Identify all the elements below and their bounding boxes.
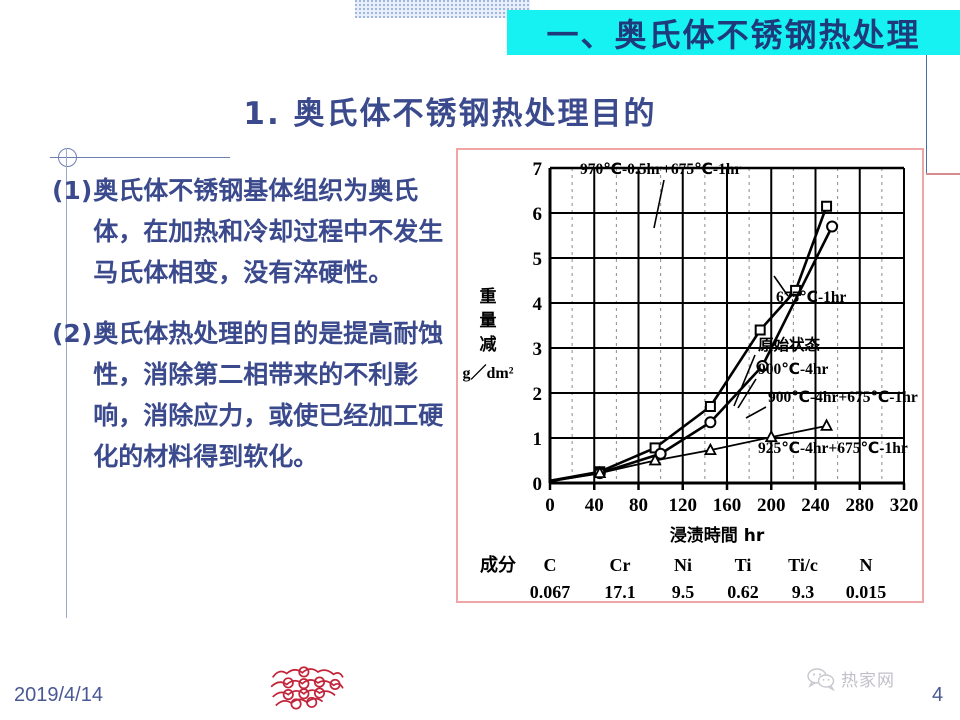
chart-y-tick-label: 5 xyxy=(533,249,543,270)
chart-y-axis-label-char: 重 xyxy=(480,286,497,307)
chart-data-point xyxy=(706,402,715,411)
chart-x-tick-label: 80 xyxy=(629,495,648,516)
chart-figure: 0123456704080120160200240280320重量减g／dm²浸… xyxy=(456,148,924,603)
chart-x-tick-label: 120 xyxy=(669,495,698,516)
paragraph-1: (1) 奥氏体不锈钢基体组织为奥氏体，在加热和冷却过程中不发生马氏体相变，没有淬… xyxy=(52,170,447,293)
paragraph-2: (2) 奥氏体热处理的目的是提高耐蚀性，消除第二相带来的不利影响，消除应力，或使… xyxy=(52,313,447,477)
chart-annotation-label: 900℃-4hr+675℃-1hr xyxy=(768,389,918,406)
chart-x-tick-label: 160 xyxy=(713,495,742,516)
chart-data-point xyxy=(822,420,832,430)
wechat-icon xyxy=(806,667,836,691)
chart-x-tick-label: 200 xyxy=(757,495,786,516)
chart-y-tick-label: 0 xyxy=(533,474,543,495)
composition-value-cell: 0.62 xyxy=(727,582,759,601)
body-text-block: (1) 奥氏体不锈钢基体组织为奥氏体，在加热和冷却过程中不发生马氏体相变，没有淬… xyxy=(52,170,447,497)
chart-annotation-leader xyxy=(654,180,664,228)
chart-x-tick-label: 280 xyxy=(846,495,875,516)
chart-x-axis-label: 浸渍時間 hr xyxy=(670,525,765,546)
chart-data-point xyxy=(822,202,831,211)
weight-loss-vs-immersion-time-chart: 0123456704080120160200240280320重量减g／dm²浸… xyxy=(458,150,922,601)
slide-canvas: 一、奥氏体不锈钢热处理 1. 奥氏体不锈钢热处理目的 (1) 奥氏体不锈钢基体组… xyxy=(0,0,960,720)
chart-x-tick-label: 240 xyxy=(801,495,830,516)
composition-row-label: 成分 xyxy=(480,554,516,576)
chart-x-tick-label: 40 xyxy=(585,495,604,516)
composition-header-cell: Ti/c xyxy=(788,555,818,575)
chart-annotation-label: 925℃-4hr+675℃-1hr xyxy=(758,440,908,457)
chart-inner: 0123456704080120160200240280320重量减g／dm²浸… xyxy=(458,150,922,601)
footer-date: 2019/4/14 xyxy=(14,684,103,707)
chart-data-point xyxy=(705,445,715,455)
composition-value-cell: 0.015 xyxy=(846,582,887,601)
chart-y-tick-label: 6 xyxy=(533,204,543,225)
right-horizontal-rule xyxy=(926,173,960,175)
paragraph-2-marker: (2) xyxy=(52,313,93,477)
paragraph-1-marker: (1) xyxy=(52,170,93,293)
chart-y-tick-label: 4 xyxy=(533,294,543,315)
chart-annotation-label: 970℃-0.5hr+675℃-1hr xyxy=(580,161,741,178)
decorative-circle-icon xyxy=(58,148,77,167)
footer-page-number: 4 xyxy=(932,684,943,707)
chart-annotation-label: 原始状态 xyxy=(758,335,821,354)
decorative-horizontal-line xyxy=(50,157,230,158)
red-seal-logo-icon xyxy=(268,660,346,712)
composition-value-cell: 0.067 xyxy=(530,582,571,601)
chart-data-point xyxy=(705,417,715,427)
chart-y-axis-label-char: 量 xyxy=(480,310,497,331)
chart-data-point xyxy=(756,326,765,335)
watermark-text: 热家网 xyxy=(841,666,895,691)
chart-y-axis-label-unit: g／dm² xyxy=(462,364,513,382)
chart-annotation-label: 900℃-4hr xyxy=(758,361,829,378)
chart-x-tick-label: 0 xyxy=(545,495,555,516)
site-watermark: 热家网 xyxy=(806,666,895,691)
chart-data-point xyxy=(827,222,837,232)
composition-header-cell: Ti xyxy=(735,555,752,575)
composition-header-cell: C xyxy=(544,555,557,575)
composition-value-cell: 9.3 xyxy=(792,582,815,601)
chart-y-tick-label: 2 xyxy=(533,384,543,405)
right-vertical-rule xyxy=(926,55,927,175)
top-decorative-dotted-band xyxy=(355,0,530,18)
composition-header-cell: N xyxy=(860,555,873,575)
composition-value-cell: 17.1 xyxy=(604,582,636,601)
chart-x-tick-label: 320 xyxy=(890,495,919,516)
chart-y-tick-label: 1 xyxy=(533,429,543,450)
composition-header-cell: Cr xyxy=(610,555,631,575)
composition-header-cell: Ni xyxy=(674,555,692,575)
paragraph-2-text: 奥氏体热处理的目的是提高耐蚀性，消除第二相带来的不利影响，消除应力，或使已经加工… xyxy=(93,313,447,477)
page-title: 1. 奥氏体不锈钢热处理目的 xyxy=(0,88,900,133)
header-banner: 一、奥氏体不锈钢热处理 xyxy=(507,10,960,55)
paragraph-1-text: 奥氏体不锈钢基体组织为奥氏体，在加热和冷却过程中不发生马氏体相变，没有淬硬性。 xyxy=(93,170,447,293)
chart-y-axis-label-char: 减 xyxy=(480,334,497,355)
composition-value-cell: 9.5 xyxy=(672,582,695,601)
header-banner-title: 一、奥氏体不锈钢热处理 xyxy=(546,10,920,56)
chart-y-tick-label: 3 xyxy=(533,339,543,360)
chart-y-tick-label: 7 xyxy=(533,159,543,180)
chart-annotation-label: 675℃-1hr xyxy=(776,289,847,306)
